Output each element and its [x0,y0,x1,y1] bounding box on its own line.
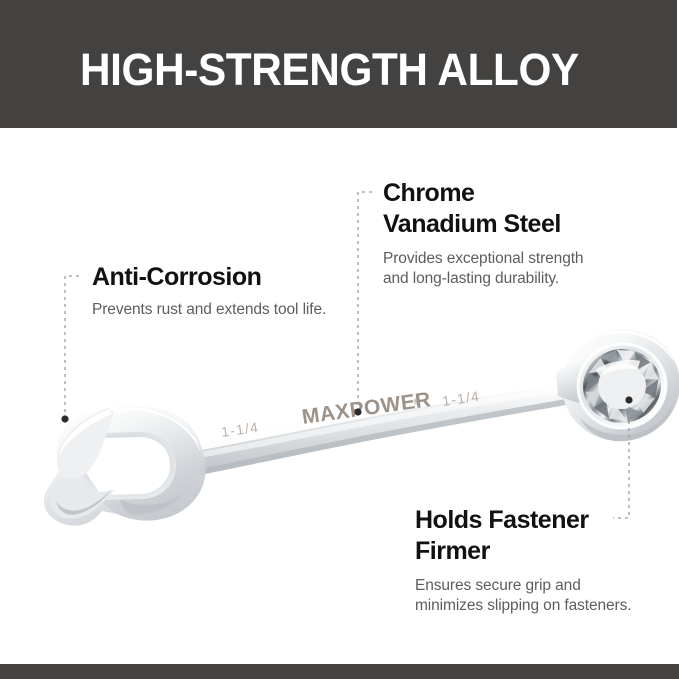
callout-holds-fastener-desc-line2: minimizes slipping on fasteners. [415,597,631,614]
callout-anti-corrosion-description: Prevents rust and extends tool life. [92,299,342,320]
product-infographic: HIGH-STRENGTH ALLOY [0,0,679,679]
callout-chrome-vanadium-desc-line1: Provides exceptional strength [383,250,583,267]
callout-chrome-vanadium-title-line2: Vanadium Steel [383,210,561,238]
callout-chrome-vanadium: Chrome Vanadium Steel Provides exception… [383,178,613,289]
wrench-box-end [554,320,679,449]
callout-chrome-vanadium-title: Chrome Vanadium Steel [383,178,613,240]
callout-holds-fastener-title-line2: Firmer [415,537,490,565]
callout-chrome-vanadium-title-line1: Chrome [383,179,474,207]
callout-anti-corrosion: Anti-Corrosion Prevents rust and extends… [92,262,342,320]
callout-holds-fastener: Holds Fastener Firmer Ensures secure gri… [415,505,655,616]
callout-chrome-vanadium-desc-line2: and long-lasting durability. [383,270,559,287]
callout-holds-fastener-description: Ensures secure grip and minimizes slippi… [415,576,655,616]
callout-holds-fastener-title: Holds Fastener Firmer [415,505,655,567]
callout-chrome-vanadium-description: Provides exceptional strength and long-l… [383,249,613,289]
wrench-open-end [44,405,212,526]
callout-anti-corrosion-title: Anti-Corrosion [92,262,342,292]
footer-band [0,664,679,679]
callout-holds-fastener-desc-line1: Ensures secure grip and [415,577,581,594]
callout-holds-fastener-title-line1: Holds Fastener [415,506,589,534]
